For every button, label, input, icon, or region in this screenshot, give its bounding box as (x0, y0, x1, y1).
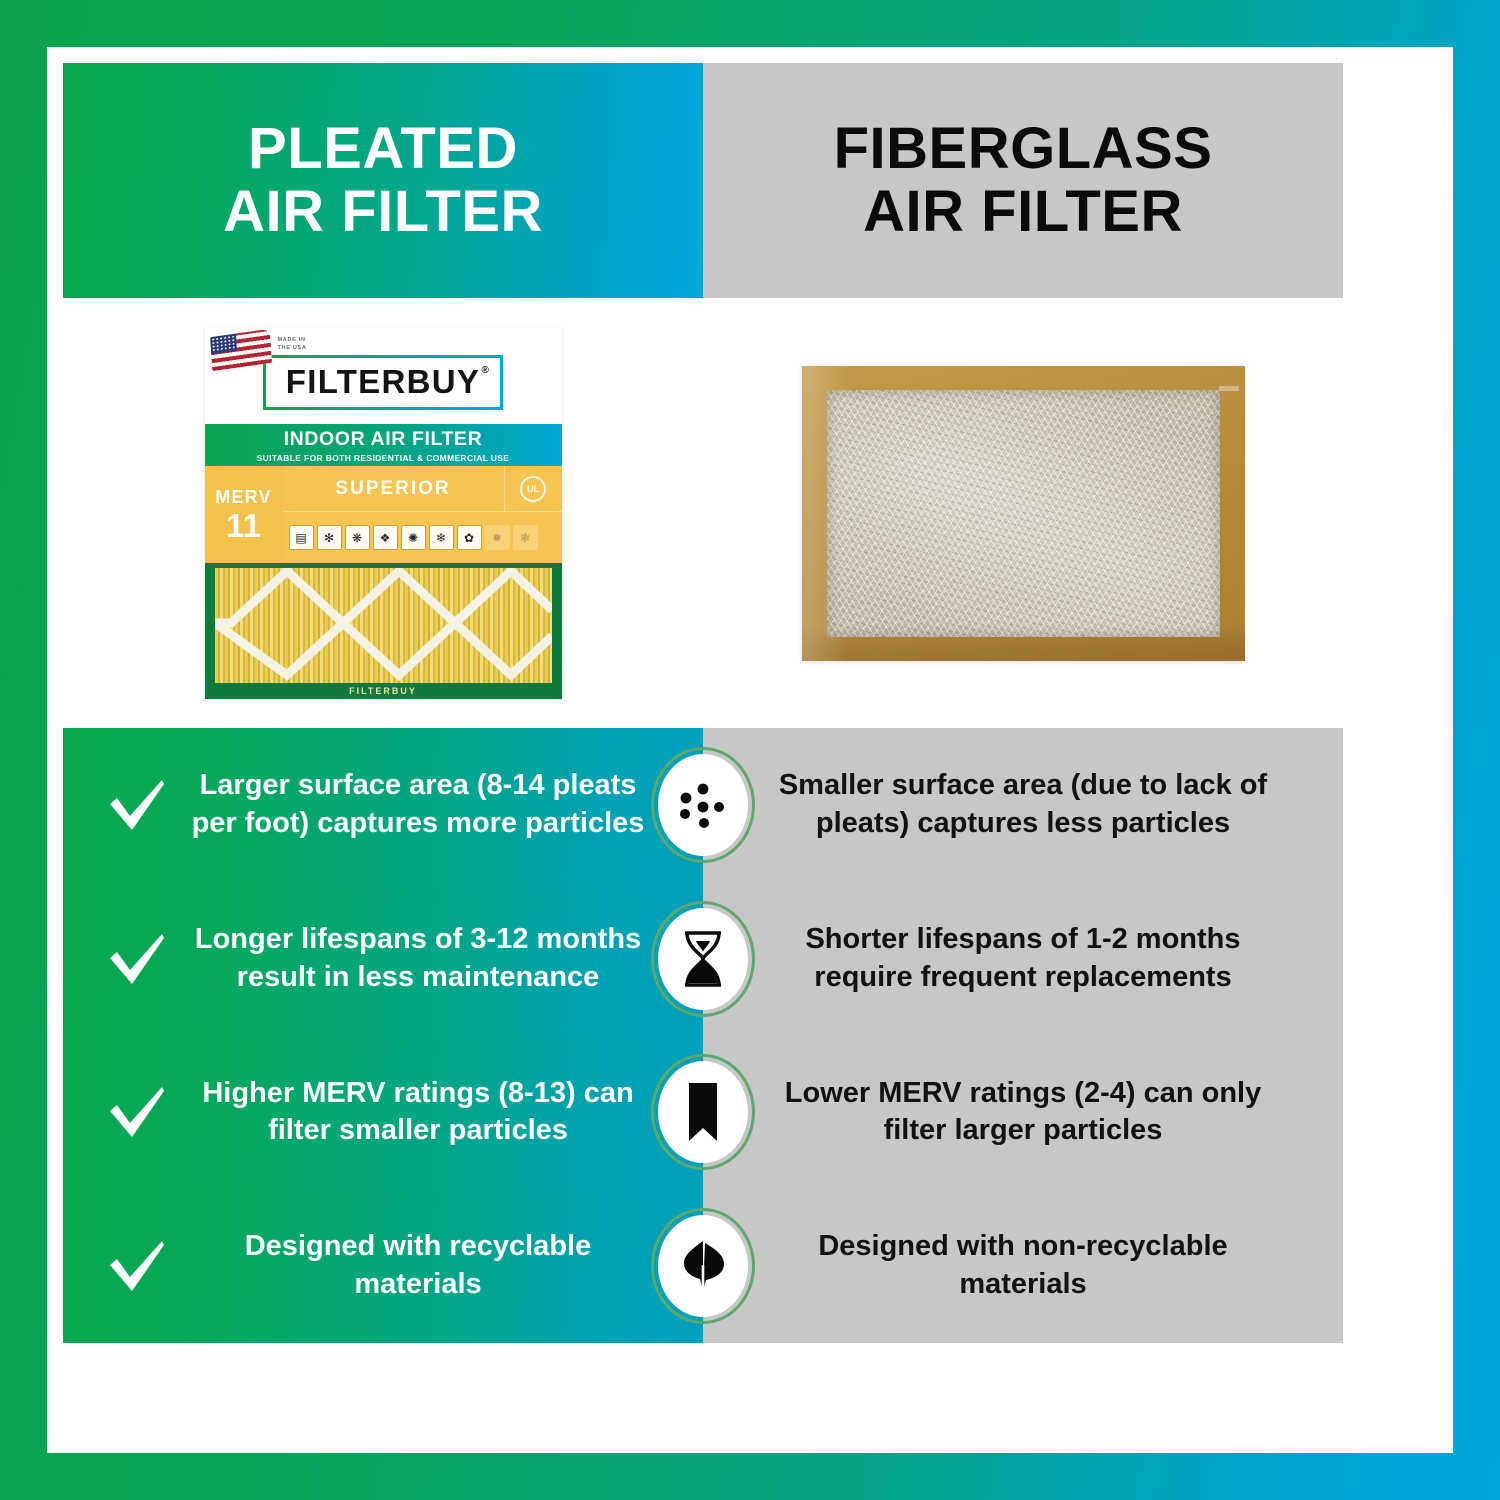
header-pleated-panel: PLEATED AIR FILTER (63, 63, 703, 298)
fiberglass-drawback-text: Designed with non-recyclable materials (703, 1228, 1343, 1303)
product-image-band: MADE IN THE USA FILTERBUY® INDOOR AIR FI… (63, 298, 1343, 728)
row-badge (651, 1054, 755, 1170)
table-row: Longer lifespans of 3-12 months result i… (63, 882, 1343, 1036)
page-title-fiberglass: FIBERGLASS AIR FILTER (834, 118, 1213, 242)
fiberglass-product-cell (703, 298, 1343, 728)
hourglass-icon (672, 928, 734, 990)
fiberglass-mesh-media (827, 390, 1220, 637)
row-pleated-cell: Higher MERV ratings (8-13) can filter sm… (63, 1036, 703, 1190)
pleated-benefit-text: Larger surface area (8-14 pleats per foo… (185, 767, 703, 842)
diamond-support-grid (215, 563, 552, 683)
pleated-benefit-text: Longer lifespans of 3-12 months result i… (185, 921, 703, 996)
fiberglass-drawback-text: Shorter lifespans of 1-2 months require … (703, 921, 1343, 996)
check-icon-svg (106, 930, 168, 988)
capability-icon-strip: ▤ ✻ ❋ ❖ ✺ ❄ ✿ ✹ ❃ (283, 512, 562, 563)
particles-icon-svg (672, 774, 734, 836)
bacteria-icon: ✺ (401, 525, 426, 550)
brand-name: FILTERBUY (286, 363, 480, 400)
pleated-benefit-text: Designed with recyclable materials (185, 1228, 703, 1303)
row-fiberglass-cell: Designed with non-recyclable materials (703, 1189, 1343, 1343)
page-title-pleated: PLEATED AIR FILTER (223, 118, 543, 242)
table-row: Higher MERV ratings (8-13) can filter sm… (63, 1036, 1343, 1190)
particles-icon (672, 774, 734, 836)
fiberglass-filter-image (802, 366, 1245, 661)
pet-dander-icon: ❄ (429, 525, 454, 550)
merv-value: 11 (226, 509, 261, 542)
made-in-usa-label: MADE IN THE USA (278, 336, 307, 353)
ribbon-bookmark-icon-svg (672, 1081, 734, 1143)
check-icon-svg (106, 776, 168, 834)
header-fiberglass-panel: FIBERGLASS AIR FILTER (703, 63, 1343, 298)
band-subtitle: SUITABLE FOR BOTH RESIDENTIAL & COMMERCI… (257, 453, 510, 463)
merv-row: MERV 11 SUPERIOR ▤ ✻ ❋ ❖ ✺ (205, 466, 562, 563)
fiberglass-drawback-text: Lower MERV ratings (2-4) can only filter… (703, 1075, 1343, 1150)
brand-logo-text: FILTERBUY® (286, 365, 480, 398)
dust-mop-icon: ▤ (289, 525, 314, 550)
merv-label: MERV (215, 487, 271, 508)
band-title: INDOOR AIR FILTER (284, 428, 483, 451)
mold-spore-icon: ❖ (373, 525, 398, 550)
fiberglass-frame-notch (1219, 386, 1239, 391)
bacteria-faded-icon: ✹ (485, 525, 510, 550)
tier-row: SUPERIOR (283, 466, 562, 512)
hourglass-icon-svg (672, 928, 734, 990)
pleated-box-top: MADE IN THE USA FILTERBUY® (205, 327, 562, 424)
row-fiberglass-cell: Smaller surface area (due to lack of ple… (703, 728, 1343, 882)
indoor-air-filter-band: INDOOR AIR FILTER SUITABLE FOR BOTH RESI… (205, 424, 562, 466)
pleated-benefit-text: Higher MERV ratings (8-13) can filter sm… (185, 1075, 703, 1150)
table-row: Larger surface area (8-14 pleats per foo… (63, 728, 1343, 882)
box-footer-brand: FILTERBUY (205, 683, 562, 699)
table-row: Designed with recyclable materials Desig… (63, 1189, 1343, 1343)
leaf-eco-icon-svg (672, 1235, 734, 1297)
row-badge (651, 901, 755, 1017)
row-pleated-cell: Larger surface area (8-14 pleats per foo… (63, 728, 703, 882)
ribbon-bookmark-icon (672, 1081, 734, 1143)
check-icon-svg (106, 1237, 168, 1295)
row-fiberglass-cell: Lower MERV ratings (2-4) can only filter… (703, 1036, 1343, 1190)
row-badge (651, 747, 755, 863)
ul-seal-icon (520, 476, 546, 502)
brand-frame: FILTERBUY® (263, 355, 503, 410)
tier-label: SUPERIOR (283, 478, 504, 500)
check-icon (89, 1083, 185, 1141)
row-fiberglass-cell: Shorter lifespans of 1-2 months require … (703, 882, 1343, 1036)
row-pleated-cell: Designed with recyclable materials (63, 1189, 703, 1343)
pollen-icon: ❋ (345, 525, 370, 550)
virus-faded-icon: ❃ (513, 525, 538, 550)
row-pleated-cell: Longer lifespans of 3-12 months result i… (63, 882, 703, 1036)
check-icon-svg (106, 1083, 168, 1141)
check-icon (89, 930, 185, 988)
leaf-eco-icon (672, 1235, 734, 1297)
merv-right-column: SUPERIOR ▤ ✻ ❋ ❖ ✺ ❄ ✿ ✹ ❃ (283, 466, 562, 563)
fiberglass-drawback-text: Smaller surface area (due to lack of ple… (703, 767, 1343, 842)
check-icon (89, 1237, 185, 1295)
pleated-media-area: FILTERBUY (205, 563, 562, 699)
dust-mite-icon: ✻ (317, 525, 342, 550)
merv-badge: MERV 11 (205, 466, 283, 563)
brand-trademark: ® (482, 366, 491, 376)
smoke-icon: ✿ (457, 525, 482, 550)
row-badge (651, 1208, 755, 1324)
ul-seal (504, 466, 562, 511)
pleated-filter-box-image: MADE IN THE USA FILTERBUY® INDOOR AIR FI… (205, 327, 562, 699)
comparison-table: Larger surface area (8-14 pleats per foo… (63, 728, 1343, 1343)
check-icon (89, 776, 185, 834)
header-row: PLEATED AIR FILTER FIBERGLASS AIR FILTER (63, 63, 1343, 298)
pleated-product-cell: MADE IN THE USA FILTERBUY® INDOOR AIR FI… (63, 298, 703, 728)
